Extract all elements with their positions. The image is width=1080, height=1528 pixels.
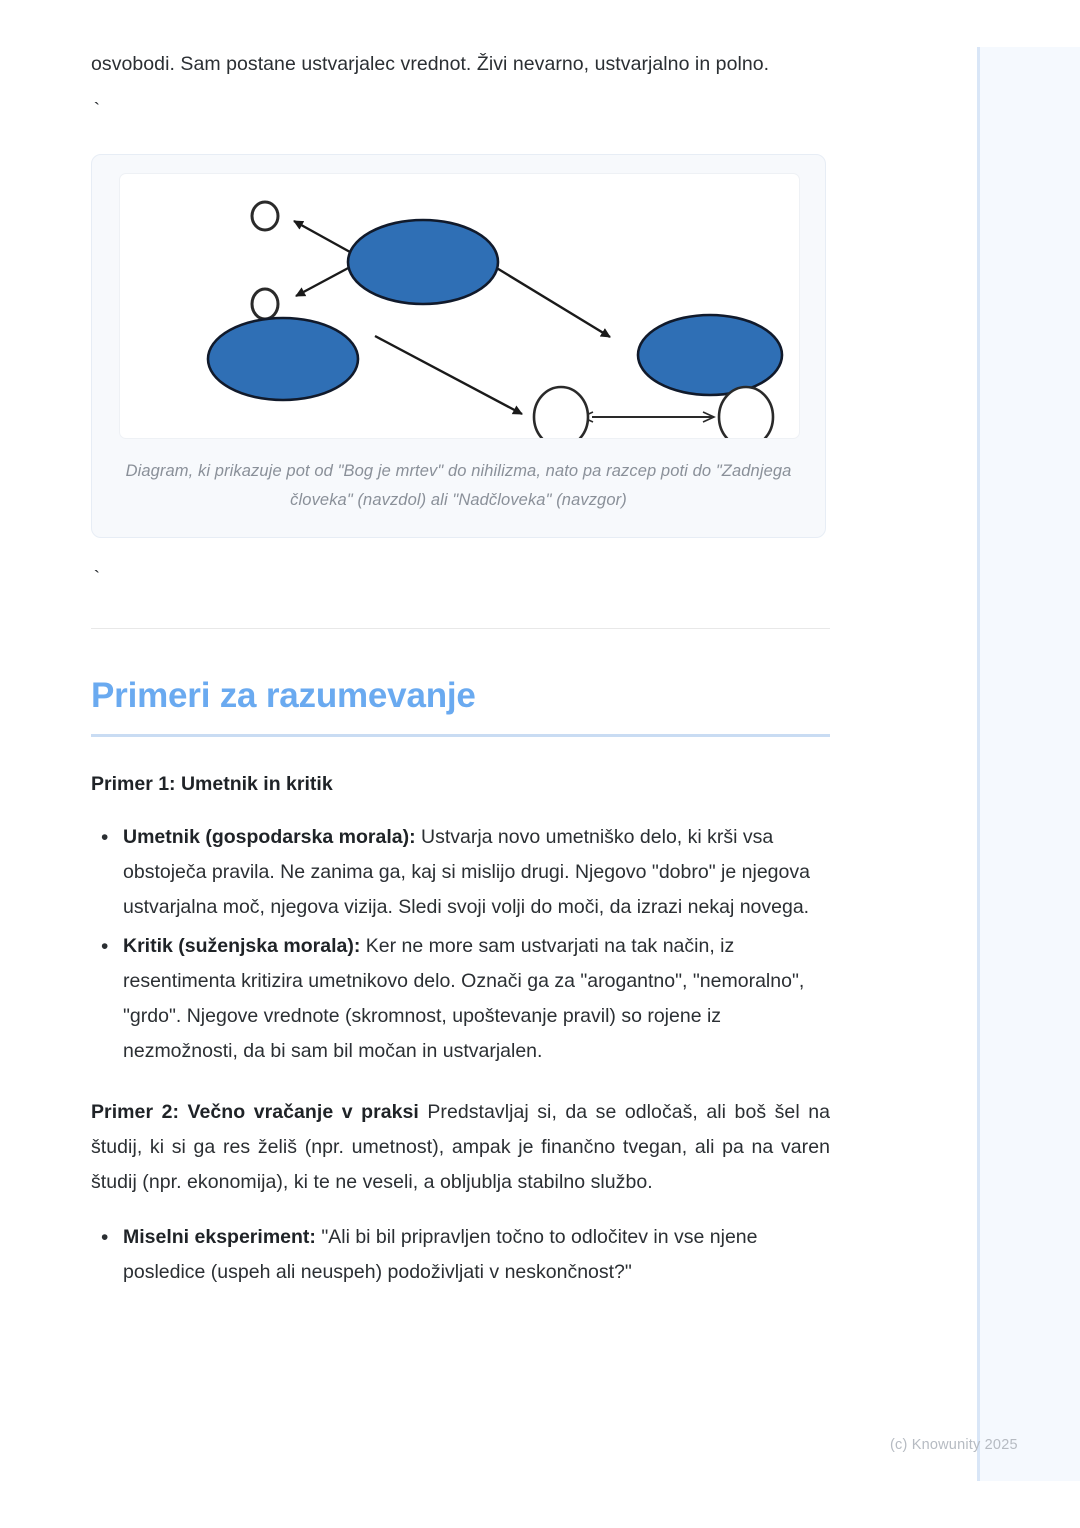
example1-bullet-list: Umetnik (gospodarska morala): Ustvarja n… (91, 820, 830, 1069)
node-small-circle-top (252, 202, 278, 230)
list-item: Kritik (suženjska morala): Ker ne more s… (123, 929, 830, 1069)
page-title: Primeri za razumevanje (91, 674, 830, 718)
code-tick-marker-1: ` (91, 96, 830, 126)
bullet-lead: Umetnik (gospodarska morala): (123, 826, 416, 848)
diagram-nodes (208, 202, 782, 438)
node-ellipse-right (638, 315, 782, 395)
example2-paragraph: Primer 2: Večno vračanje v praksi Predst… (91, 1095, 830, 1200)
bullet-lead: Miselni eksperiment: (123, 1226, 316, 1248)
node-small-circle-bottom (252, 289, 278, 319)
example1-title: Primer 1: Umetnik in kritik (91, 770, 830, 798)
document-page: osvobodi. Sam postane ustvarjalec vredno… (0, 0, 920, 1294)
bullet-lead: Kritik (suženjska morala): (123, 935, 360, 957)
figure-card: Diagram, ki prikazuje pot od "Bog je mrt… (91, 154, 826, 538)
code-tick-marker-2: ` (91, 564, 830, 594)
node-circle-bottom-middle (534, 387, 588, 438)
list-item: Umetnik (gospodarska morala): Ustvarja n… (123, 820, 830, 925)
node-circle-bottom-right (719, 387, 773, 438)
example2-lead: Primer 2: Večno vračanje v praksi (91, 1101, 419, 1123)
document-content: osvobodi. Sam postane ustvarjalec vredno… (91, 0, 830, 1290)
title-underline (91, 734, 830, 737)
copyright-watermark: (c) Knowunity 2025 (890, 1437, 1018, 1453)
example2-bullet-list: Miselni eksperiment: "Ali bi bil priprav… (91, 1220, 830, 1290)
right-edge-band (977, 47, 1080, 1481)
figure-caption: Diagram, ki prikazuje pot od "Bog je mrt… (125, 457, 792, 515)
diagram-image (119, 173, 800, 439)
intro-paragraph: osvobodi. Sam postane ustvarjalec vredno… (91, 0, 830, 82)
node-ellipse-center-top (348, 220, 498, 304)
node-ellipse-bottom-left (208, 318, 358, 400)
section-divider (91, 628, 830, 629)
list-item: Miselni eksperiment: "Ali bi bil priprav… (123, 1220, 830, 1290)
